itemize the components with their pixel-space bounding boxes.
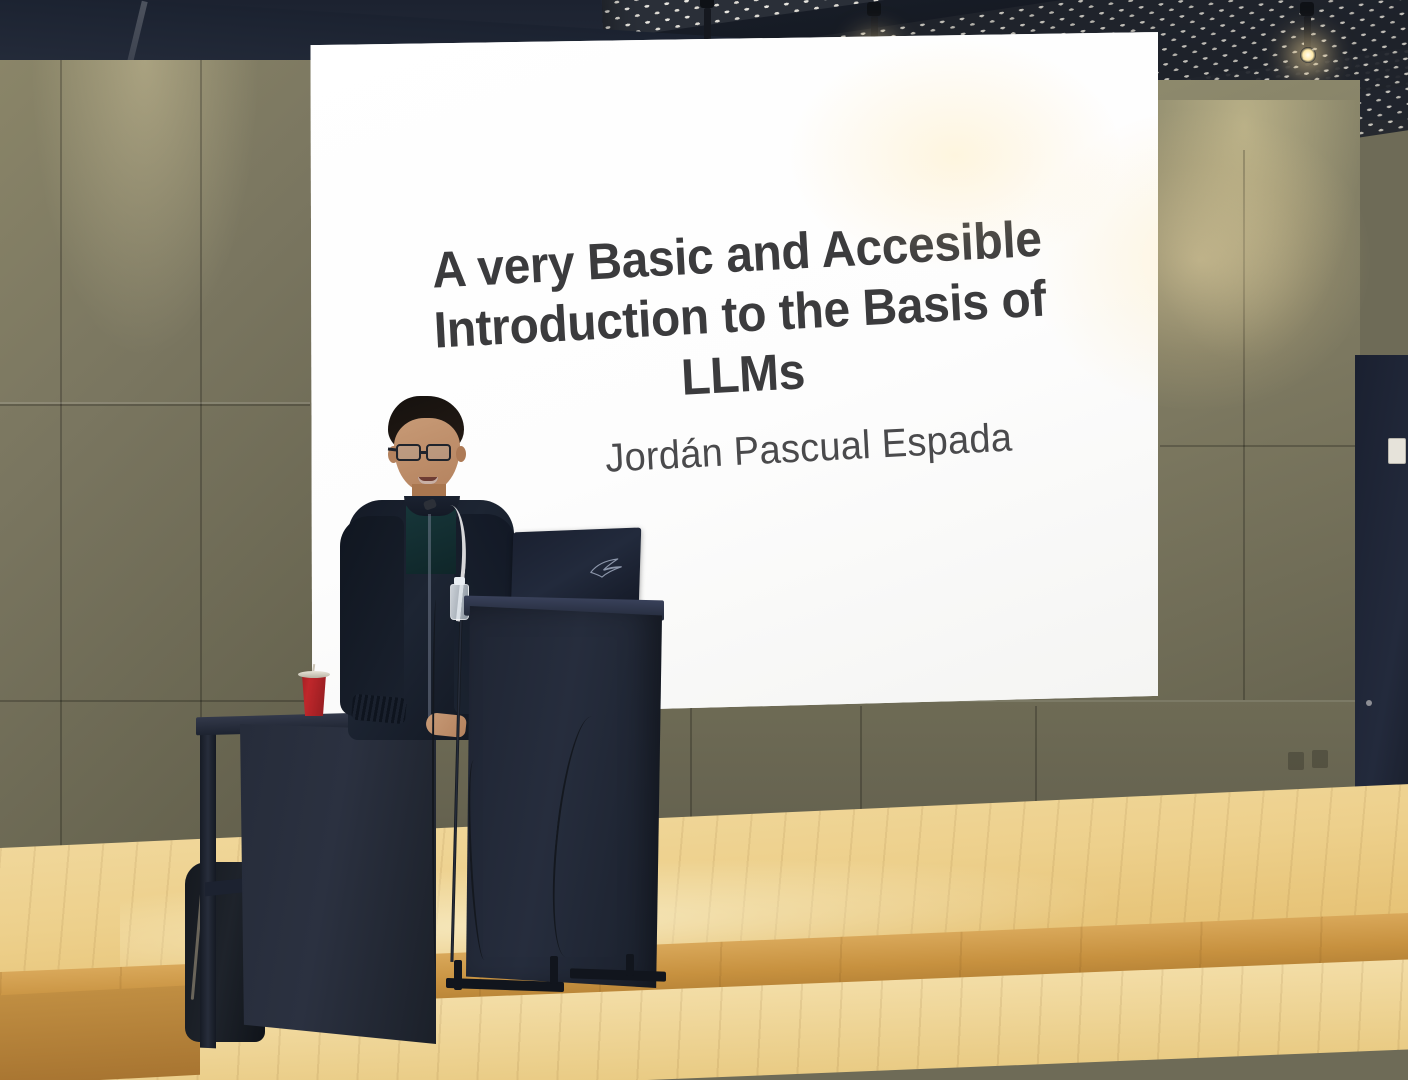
wall-seam: [0, 404, 310, 406]
microphone-cable: [432, 600, 440, 970]
presenter-sleeve-cuff: [351, 694, 407, 725]
eyeglasses-lens: [426, 444, 451, 461]
right-wall-light-wash: [1150, 100, 1360, 360]
presenter-ear: [456, 446, 466, 462]
spotlight-head: [867, 2, 881, 16]
asus-rog-eye-logo: [588, 556, 627, 582]
presenter-jacket-zipper: [428, 514, 431, 729]
podium-base-bar: [570, 968, 666, 981]
left-wall-light-wash: [30, 60, 260, 360]
door-knob[interactable]: [1366, 700, 1372, 706]
spotlight-bulb: [1300, 47, 1316, 63]
wall-seam: [1160, 445, 1360, 447]
wall-seam: [60, 60, 62, 960]
wall-socket[interactable]: [1288, 752, 1304, 770]
podium-base-bar: [446, 978, 564, 992]
podium-base-post: [550, 956, 558, 984]
eyeglasses-lens: [396, 444, 421, 461]
eyeglasses-bridge: [421, 451, 426, 454]
spotlight-arm: [704, 8, 711, 42]
spotlight-head: [1300, 2, 1314, 16]
spotlight-head: [700, 0, 714, 8]
ceiling-spotlight: [1300, 2, 1314, 63]
ceiling-spotlight: [700, 0, 714, 42]
podium-base-frame: [440, 952, 670, 998]
floor-left-shadow: [0, 985, 200, 1080]
slide-title: A very Basic and Accesible Introduction …: [364, 205, 1115, 424]
wall-socket[interactable]: [1312, 750, 1328, 768]
lecture-hall-photo: A very Basic and Accesible Introduction …: [0, 0, 1408, 1080]
light-switch-plate[interactable]: [1388, 438, 1406, 464]
coffee-cup-rim: [298, 671, 330, 678]
water-bottle-cap: [454, 577, 465, 585]
presenter-left-arm: [340, 516, 404, 716]
wall-seam-highlight: [0, 402, 310, 404]
podium-base-post: [626, 954, 634, 976]
spotlight-arm: [1304, 16, 1311, 50]
wall-seam: [0, 700, 310, 702]
podium-base-post: [454, 960, 462, 990]
